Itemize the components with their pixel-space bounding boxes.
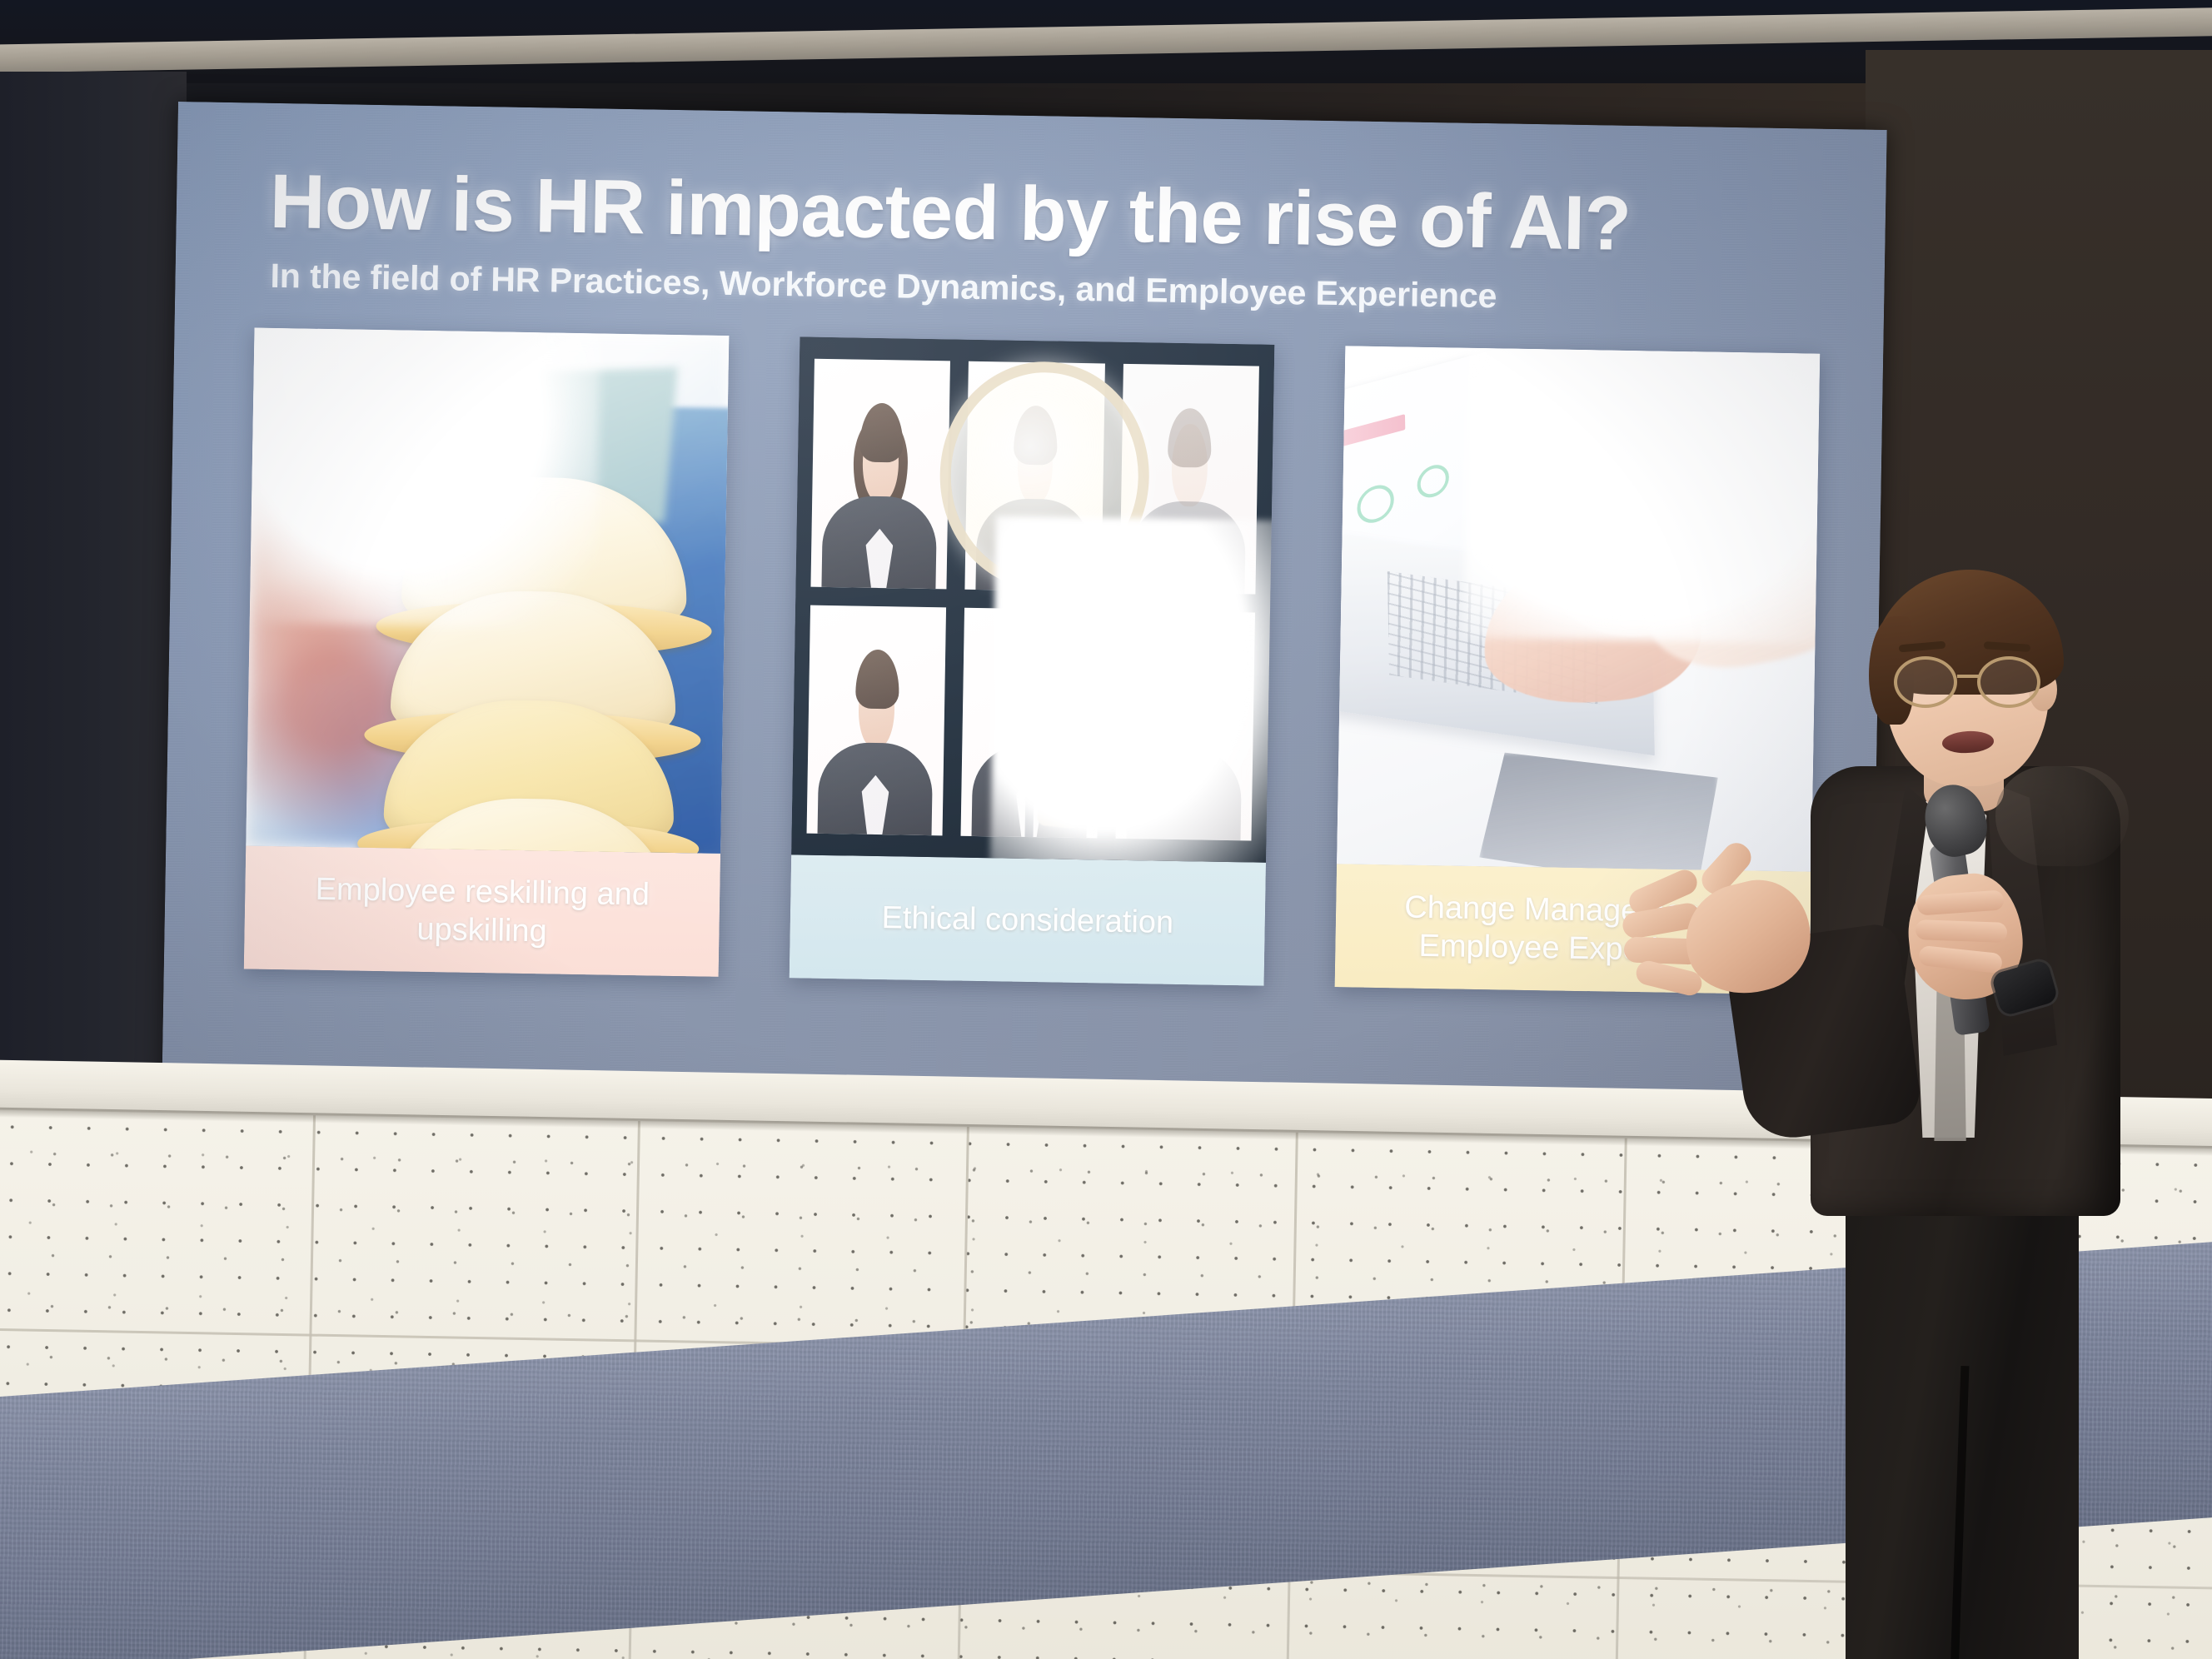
projector-highlight [990,516,1274,863]
stacked-hard-hats-photo [246,328,729,854]
projector-highlight [246,328,601,629]
finger [1916,919,2008,943]
round-glasses-icon [1889,656,2052,708]
headshot-thumb [810,359,950,590]
slide-card-reskilling: Employee reskilling and upskilling [244,328,730,977]
headshot-thumb [807,605,947,836]
presenter [1746,516,2212,1659]
slide-card-row: Employee reskilling and upskilling [244,328,1821,995]
left-wall-pillar [0,72,187,1138]
card-caption-reskilling: Employee reskilling and upskilling [244,845,720,976]
stage-scene: How is HR impacted by the rise of AI? In… [0,0,2212,1659]
shoulder-highlight [1995,766,2129,866]
slide-title: How is HR impacted by the rise of AI? [269,163,1632,262]
slide-subtitle: In the field of HR Practices, Workforce … [270,257,1497,316]
slide-card-ethics: Ethical consideration [790,336,1275,985]
projection-screen: How is HR impacted by the rise of AI? In… [160,102,1886,1213]
presentation-slide: How is HR impacted by the rise of AI? In… [160,102,1886,1213]
card-caption-ethics: Ethical consideration [790,854,1266,985]
candidate-headshot-grid-photo [791,336,1274,862]
